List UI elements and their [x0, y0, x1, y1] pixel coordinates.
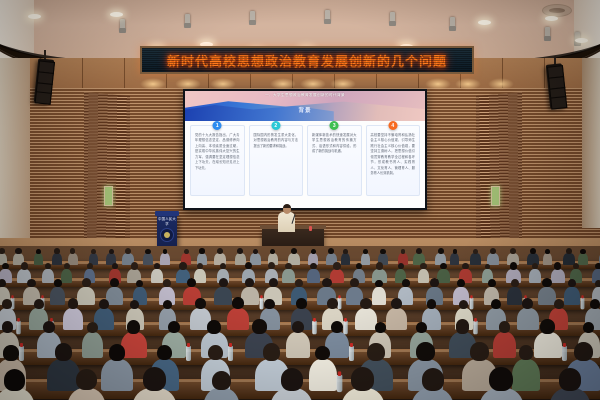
- audience-member-head: [401, 249, 406, 254]
- ceiling-spotlight: [250, 11, 255, 23]
- ceiling-vent: [542, 4, 572, 17]
- audience-member: [50, 287, 65, 305]
- audience-member-head: [566, 248, 572, 254]
- audience-member-head: [530, 248, 536, 254]
- water-bottle: [17, 320, 22, 334]
- audience-member-head: [125, 248, 131, 254]
- audience-member-head: [376, 262, 384, 270]
- ceiling-spotlight: [545, 27, 550, 39]
- audience-member: [82, 332, 104, 358]
- audience-member: [512, 359, 540, 391]
- audience-member: [34, 253, 43, 265]
- right-line-array-speaker: [546, 63, 567, 108]
- audience-member-head: [315, 346, 330, 361]
- audience-member-head: [453, 249, 458, 254]
- audience-member: [101, 359, 133, 391]
- audience-member-head: [333, 262, 341, 270]
- audience-member-head: [488, 279, 496, 287]
- slide-card-badge: 2: [271, 121, 280, 130]
- audience-member-head: [130, 300, 139, 310]
- audience-member-head: [195, 298, 206, 309]
- slide-card: 4高校要坚持不懈培育和弘扬社会主义核心价值观，引导师生践行社会主义核心价值观，要…: [366, 125, 421, 196]
- audience-member-head: [131, 262, 138, 269]
- audience-member: [143, 253, 153, 265]
- audience-member-head: [219, 278, 228, 288]
- podium-label: 中国人民大学: [157, 216, 177, 226]
- audience-member: [286, 332, 309, 358]
- audience-member: [493, 332, 516, 358]
- audience-member-head: [511, 279, 519, 287]
- audience-member-head: [212, 371, 231, 390]
- audience-member-head: [350, 278, 359, 287]
- projection-screen-frame: 一、大学生思想政治教育发展创新的时代背景 背景 1党的十九大报告指出，广大青年理…: [183, 89, 427, 210]
- audience-member-head: [540, 319, 555, 334]
- audience-member-head: [207, 320, 221, 334]
- wall-panel-seam: [124, 58, 125, 88]
- audience-member-head: [380, 249, 385, 254]
- ceiling-downlight: [545, 16, 558, 21]
- audience-member-head: [595, 280, 600, 287]
- audience-member-head: [331, 321, 343, 333]
- audience-member-head: [43, 321, 55, 334]
- audience-member: [307, 269, 319, 283]
- slide-card-group: 1党的十九大报告指出，广大青年理想信念坚定、品德修养向上向善、本领素质全面过硬，…: [190, 125, 420, 196]
- slide-card: 2国际国内形势发生重大变化，对思想政治教育的内容与方法提出了新的要求和挑战。: [249, 125, 304, 196]
- audience-member-head: [519, 345, 534, 360]
- audience-member-head: [590, 299, 600, 309]
- audience-member-head: [438, 248, 444, 254]
- audience-member: [227, 308, 250, 330]
- water-bottle: [344, 320, 349, 334]
- audience-member: [330, 269, 345, 283]
- audience-member: [61, 269, 73, 283]
- water-bottle: [562, 346, 567, 361]
- desk-cup: [309, 226, 312, 231]
- wall-wash-light: [488, 78, 514, 90]
- audience-member-head: [270, 249, 275, 254]
- audience-member: [386, 308, 407, 330]
- audience-member-head: [542, 278, 552, 288]
- audience-member-head: [568, 279, 576, 287]
- audience-member-head: [264, 299, 274, 310]
- audience-member-head: [532, 263, 538, 270]
- audience-member: [543, 253, 552, 265]
- slide-title: 一、大学生思想政治教育发展创新的时代背景: [185, 93, 425, 98]
- audience-member: [372, 287, 386, 305]
- audience-member-head: [21, 262, 28, 269]
- audience-member-head: [127, 320, 140, 334]
- audience-member-head: [416, 322, 428, 334]
- audience-member-head: [360, 298, 372, 310]
- audience-member-head: [489, 367, 512, 391]
- audience-member-head: [217, 248, 223, 254]
- audience-member-head: [327, 298, 338, 309]
- water-bottle: [19, 346, 24, 361]
- audience-member-head: [351, 367, 374, 390]
- audience-member-head: [574, 342, 593, 361]
- audience-member-head: [252, 319, 266, 334]
- audience-member-head: [522, 298, 533, 310]
- audience-member: [214, 287, 232, 305]
- audience-member-head: [291, 248, 297, 254]
- left-wood-pilaster: [84, 92, 130, 254]
- audience-member-head: [0, 248, 5, 254]
- audience-member-head: [269, 278, 278, 287]
- audience-member-head: [510, 248, 516, 254]
- audience-member-head: [54, 248, 59, 254]
- audience-member: [77, 287, 95, 305]
- audience-member-head: [491, 299, 501, 310]
- audience-member-head: [145, 249, 150, 254]
- audience-member-head: [179, 262, 187, 270]
- audience-member-head: [375, 280, 382, 287]
- audience-member-head: [391, 298, 402, 309]
- audience-member-head: [427, 299, 437, 309]
- audience-member-head: [199, 248, 204, 254]
- audience-member-head: [292, 321, 304, 333]
- audience-member-head: [76, 369, 97, 390]
- audience-member-head: [416, 248, 422, 254]
- ceiling-downlight: [575, 38, 588, 43]
- water-bottle: [470, 298, 474, 310]
- ceiling-downlight: [478, 20, 491, 25]
- audience-member-head: [363, 249, 368, 254]
- audience-member-head: [311, 249, 316, 254]
- audience-member: [534, 332, 562, 358]
- audience-member: [341, 253, 350, 265]
- water-bottle: [186, 346, 191, 361]
- audience-member-head: [34, 299, 44, 309]
- audience-member-head: [3, 345, 18, 361]
- audience-member-head: [232, 297, 244, 309]
- audience-member-head: [281, 368, 303, 391]
- audience-member: [507, 287, 523, 305]
- audience-member-head: [36, 249, 41, 254]
- audience-member: [517, 308, 539, 330]
- audience-member: [309, 359, 337, 391]
- audience-member-head: [459, 300, 468, 309]
- audience-member-head: [112, 263, 118, 269]
- audience-member-head: [27, 279, 36, 288]
- audience-member-head: [237, 248, 243, 254]
- wall-wash-light: [425, 78, 451, 90]
- audience-member-head: [510, 262, 518, 270]
- wall-panel-seam: [544, 58, 545, 88]
- wall-wash-light: [140, 78, 166, 90]
- audience-member: [529, 269, 541, 283]
- audience-member-head: [343, 249, 348, 254]
- audience-member-head: [268, 262, 275, 269]
- audience-member: [160, 253, 169, 265]
- audience-member: [47, 359, 80, 391]
- audience-member-head: [154, 263, 160, 269]
- slide-card-text: 国际国内形势发生重大变化，对思想政治教育的内容与方法提出了新的要求和挑战。: [254, 133, 299, 149]
- audience-member-head: [4, 369, 25, 391]
- audience-member-head: [99, 299, 109, 309]
- audience-member-head: [375, 322, 386, 334]
- wall-wash-light: [455, 78, 481, 90]
- audience-member-head: [554, 262, 561, 269]
- audience-member: [52, 253, 63, 265]
- audience-member: [470, 253, 480, 265]
- audience-member-head: [168, 321, 181, 334]
- water-bottle: [228, 346, 233, 361]
- water-bottle: [581, 298, 585, 310]
- left-exit-window: [104, 186, 113, 206]
- speaker-hair: [283, 204, 291, 208]
- ceiling-spotlight: [185, 14, 190, 26]
- audience-member: [355, 308, 377, 330]
- led-banner-scanlines: [142, 48, 472, 72]
- audience-member-head: [580, 249, 585, 254]
- audience-member-head: [440, 263, 447, 270]
- slide-card-badge: 4: [388, 121, 397, 130]
- audience-member: [42, 269, 54, 283]
- audience-member-head: [82, 278, 91, 288]
- audience-member: [63, 308, 84, 330]
- water-bottle: [337, 375, 343, 392]
- audience-member: [487, 253, 499, 265]
- ceiling-spotlight: [325, 10, 330, 22]
- audience-member: [151, 269, 163, 283]
- right-exit-window: [491, 186, 500, 206]
- audience-member-head: [87, 263, 93, 269]
- audience-member-head: [367, 343, 385, 361]
- audience-member-head: [470, 342, 488, 361]
- audience-member: [282, 269, 295, 283]
- audience-member-head: [15, 248, 21, 254]
- audience-member-head: [595, 263, 600, 270]
- ceiling-downlight: [110, 12, 123, 17]
- ceiling-downlight: [28, 14, 41, 19]
- audience-member-head: [462, 263, 468, 269]
- audience-member-head: [184, 249, 189, 254]
- audience-member-head: [163, 249, 168, 254]
- audience-area: [0, 246, 600, 400]
- slide-card-badge: 1: [213, 121, 222, 130]
- audience-member: [250, 253, 260, 265]
- slide-card: 1党的十九大报告指出，广大青年理想信念坚定、品德修养向上向善、本领素质全面过硬，…: [190, 125, 245, 196]
- audience-member-head: [109, 344, 125, 361]
- audience-member-head: [554, 299, 564, 309]
- audience-member-head: [2, 263, 9, 270]
- right-wood-pilaster: [476, 92, 522, 254]
- audience-member-head: [163, 300, 172, 309]
- slide-card-text: 高校要坚持不懈培育和弘扬社会主义核心价值观，引导师生践行社会主义核心价值观，要坚…: [371, 133, 416, 177]
- audience-member: [418, 269, 430, 283]
- left-line-array-speaker: [34, 58, 55, 103]
- projection-screen: 一、大学生思想政治教育发展创新的时代背景 背景 1党的十九大报告指出，广大青年理…: [185, 91, 425, 208]
- audience-member-head: [456, 319, 470, 333]
- audience-member-head: [208, 345, 223, 360]
- audience-member-head: [110, 278, 119, 287]
- audience-member-head: [490, 248, 496, 254]
- ceiling-spotlight: [120, 19, 125, 31]
- slide-subtitle: 背景: [185, 106, 425, 114]
- right-side-wall: [582, 58, 600, 228]
- audience-member-head: [263, 343, 281, 361]
- audience-member-head: [197, 263, 203, 269]
- audience-member: [450, 253, 459, 265]
- audience-member-head: [545, 249, 550, 254]
- ceiling-spotlight: [390, 12, 395, 24]
- audience-member-head: [87, 322, 98, 333]
- audience-member-head: [420, 263, 426, 269]
- audience-member-head: [296, 298, 307, 309]
- university-seal-icon: [160, 228, 174, 242]
- audience-member-head: [64, 263, 70, 269]
- audience-member-head: [143, 367, 166, 391]
- audience-member-head: [54, 279, 62, 287]
- audience-member-head: [109, 249, 114, 254]
- water-bottle: [349, 346, 354, 361]
- audience-member-head: [416, 342, 434, 361]
- audience-member-head: [2, 321, 14, 333]
- slide-header: 一、大学生思想政治教育发展创新的时代背景 背景: [185, 91, 425, 121]
- audience-member-head: [322, 278, 332, 288]
- audience-member-head: [457, 279, 466, 288]
- slide-card: 3新媒体新技术的快速发展对大学生思想政治教育的传播方式、话语形式和内容供给，形成…: [307, 125, 362, 196]
- audience-member-head: [253, 249, 258, 254]
- audience-member: [235, 253, 246, 265]
- slide-card-text: 新媒体新技术的快速发展对大学生思想政治教育的传播方式、话语形式和内容供给，形成了…: [312, 133, 357, 155]
- water-bottle: [473, 320, 478, 334]
- audience-member-head: [559, 368, 581, 390]
- audience-member-head: [91, 249, 96, 254]
- audience-member: [551, 269, 565, 283]
- audience-member-head: [473, 249, 478, 254]
- water-bottle: [259, 298, 263, 310]
- audience-member-head: [55, 343, 72, 360]
- ceiling-spotlight: [450, 17, 455, 29]
- audience-member-head: [402, 279, 410, 287]
- audience-member-head: [398, 263, 404, 269]
- lecture-hall-photo: 新时代高校思想政治教育发展创新的几个问题 一、大学生思想政治教育发展创新的时代背…: [0, 0, 600, 400]
- audience-member: [578, 253, 588, 265]
- podium: 中国人民大学: [157, 214, 177, 250]
- wall-panel-seam: [82, 58, 83, 88]
- audience-member-head: [422, 368, 444, 391]
- slide-card-text: 党的十九大报告指出，广大青年理想信念坚定、品德修养向上向善、本领素质全面过硬，是…: [195, 133, 240, 171]
- audience-member-head: [310, 263, 316, 270]
- audience-member-head: [68, 298, 79, 309]
- audience-member: [361, 253, 370, 265]
- slide-card-badge: 3: [330, 121, 339, 130]
- audience-member-head: [2, 299, 11, 309]
- left-side-wall: [0, 58, 30, 238]
- led-banner: 新时代高校思想政治教育发展创新的几个问题: [140, 46, 474, 74]
- water-bottle: [312, 320, 317, 334]
- audience-member: [564, 287, 580, 305]
